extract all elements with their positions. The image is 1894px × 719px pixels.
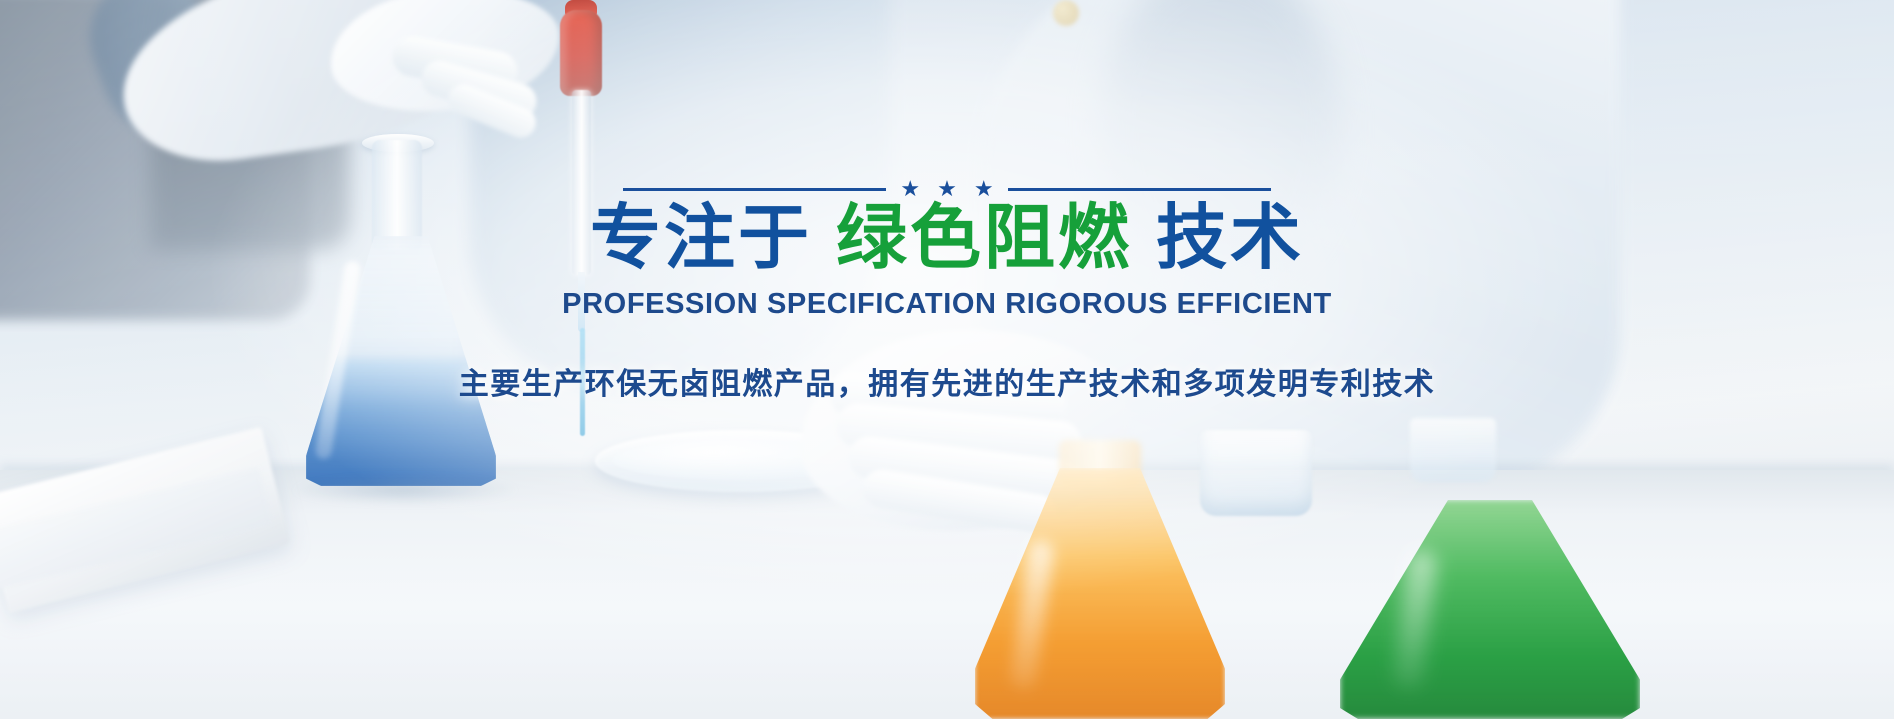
divider-line-left: [623, 188, 886, 191]
headline-part-green: 绿色阻燃: [836, 196, 1132, 279]
hero-banner: ★ ★ ★ 专注于绿色阻燃技术 PROFESSION SPECIFICATION…: [0, 0, 1894, 719]
headline-part-blue-2: 技术: [1156, 196, 1304, 279]
banner-content: ★ ★ ★ 专注于绿色阻燃技术 PROFESSION SPECIFICATION…: [0, 0, 1894, 719]
page-title: 专注于绿色阻燃技术: [590, 200, 1304, 277]
headline-part-blue-1: 专注于: [590, 196, 812, 279]
subtitle-english: PROFESSION SPECIFICATION RIGOROUS EFFICI…: [562, 288, 1332, 321]
description-chinese: 主要生产环保无卤阻燃产品，拥有先进的生产技术和多项发明专利技术: [459, 359, 1436, 403]
divider-line-right: [1008, 188, 1271, 191]
